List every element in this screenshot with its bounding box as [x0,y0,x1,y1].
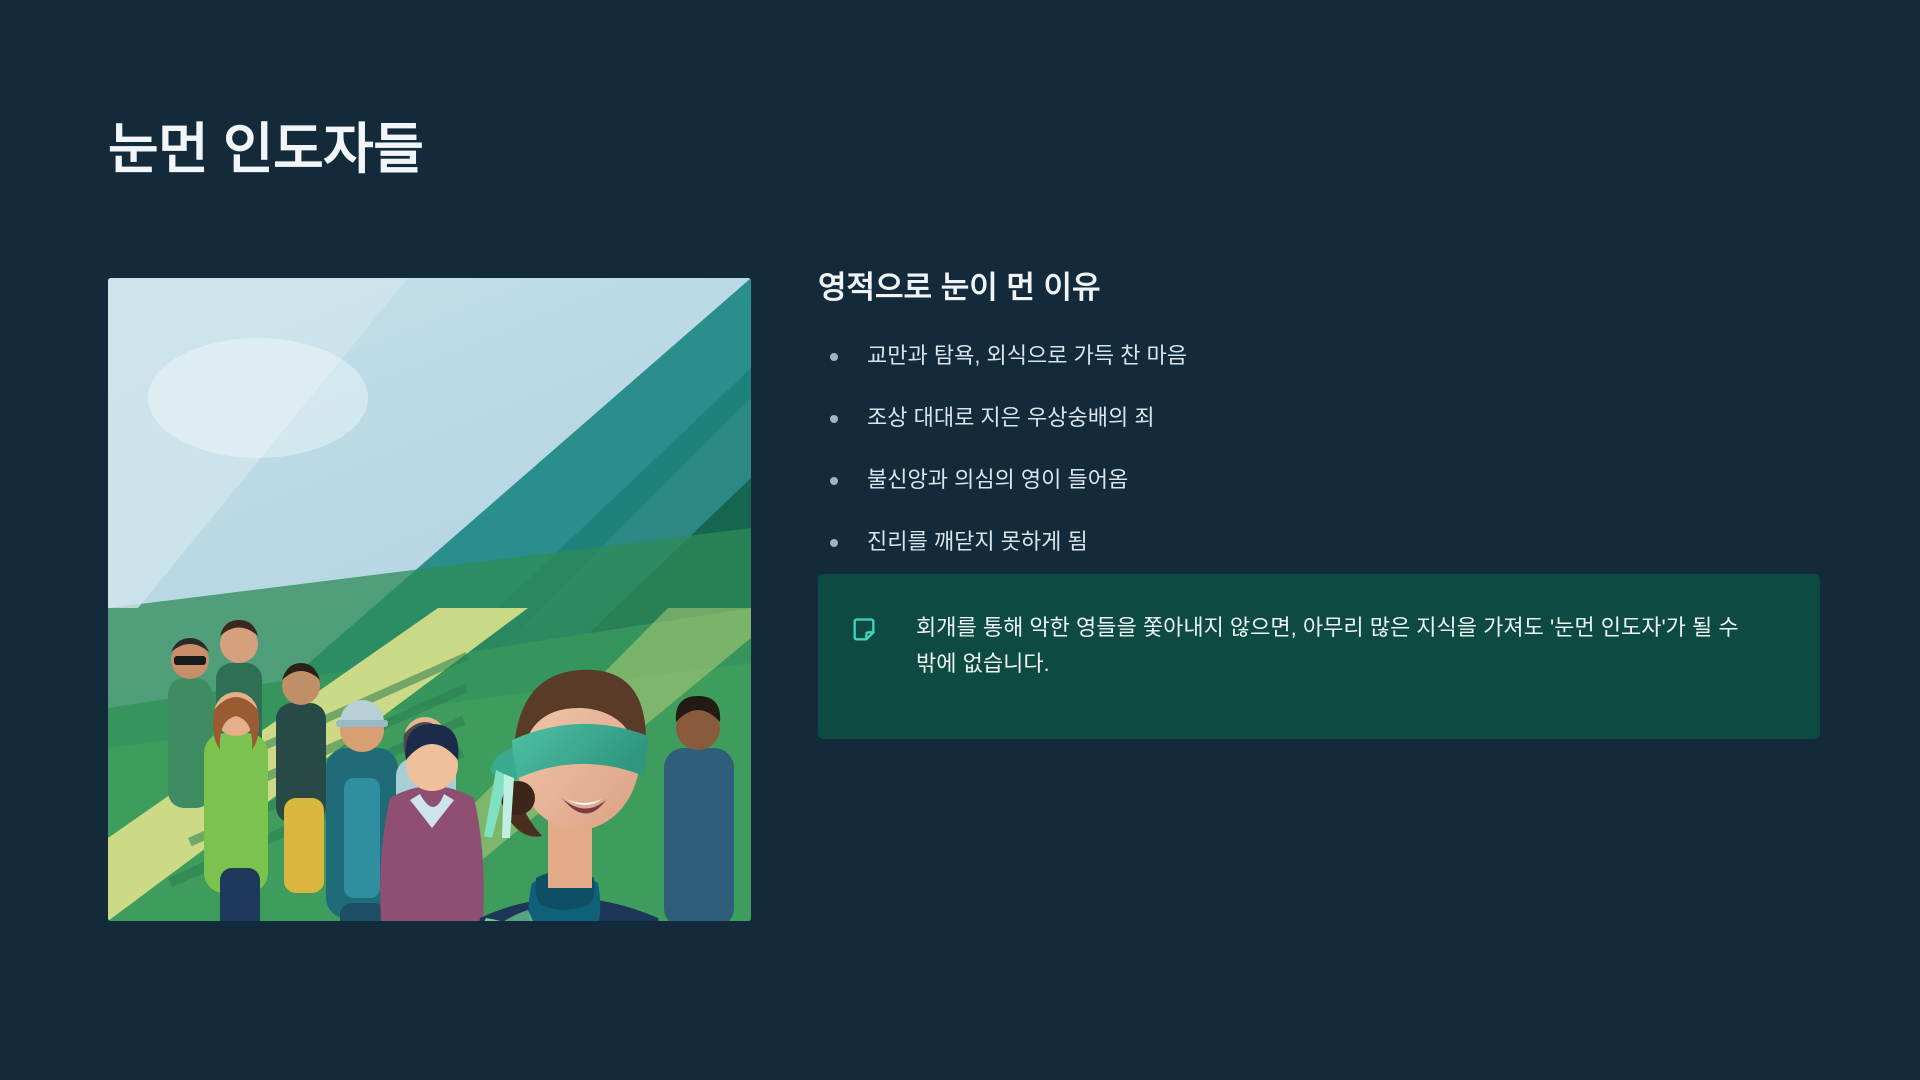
bullet-dot-icon [830,477,838,485]
section-heading: 영적으로 눈이 먼 이유 [818,268,1820,308]
list-item: 조상 대대로 지은 우상숭배의 죄 [818,402,1820,434]
reason-list: 교만과 탐욕, 외식으로 가득 찬 마음 조상 대대로 지은 우상숭배의 죄 불… [818,340,1820,558]
list-item: 교만과 탐욕, 외식으로 가득 찬 마음 [818,340,1820,372]
slide-root: 눈먼 인도자들 [0,0,1920,1080]
list-item-label: 교만과 탐욕, 외식으로 가득 찬 마음 [867,343,1187,368]
bullet-dot-icon [830,415,838,423]
bullet-dot-icon [830,353,838,361]
illustration-image [108,278,751,921]
page-title: 눈먼 인도자들 [108,118,423,181]
bullet-dot-icon [830,539,838,547]
list-item: 진리를 깨닫지 못하게 됨 [818,526,1820,558]
sticky-note-icon [850,616,878,644]
list-item-label: 불신앙과 의심의 영이 들어옴 [867,467,1128,492]
callout-text: 회개를 통해 악한 영들을 쫓아내지 않으면, 아무리 많은 지식을 가져도 '… [916,610,1754,681]
callout-box: 회개를 통해 악한 영들을 쫓아내지 않으면, 아무리 많은 지식을 가져도 '… [818,574,1820,739]
list-item: 불신앙과 의심의 영이 들어옴 [818,464,1820,496]
list-item-label: 진리를 깨닫지 못하게 됨 [867,529,1088,554]
list-item-label: 조상 대대로 지은 우상숭배의 죄 [867,405,1155,430]
content-column: 영적으로 눈이 먼 이유 교만과 탐욕, 외식으로 가득 찬 마음 조상 대대로… [818,268,1820,558]
